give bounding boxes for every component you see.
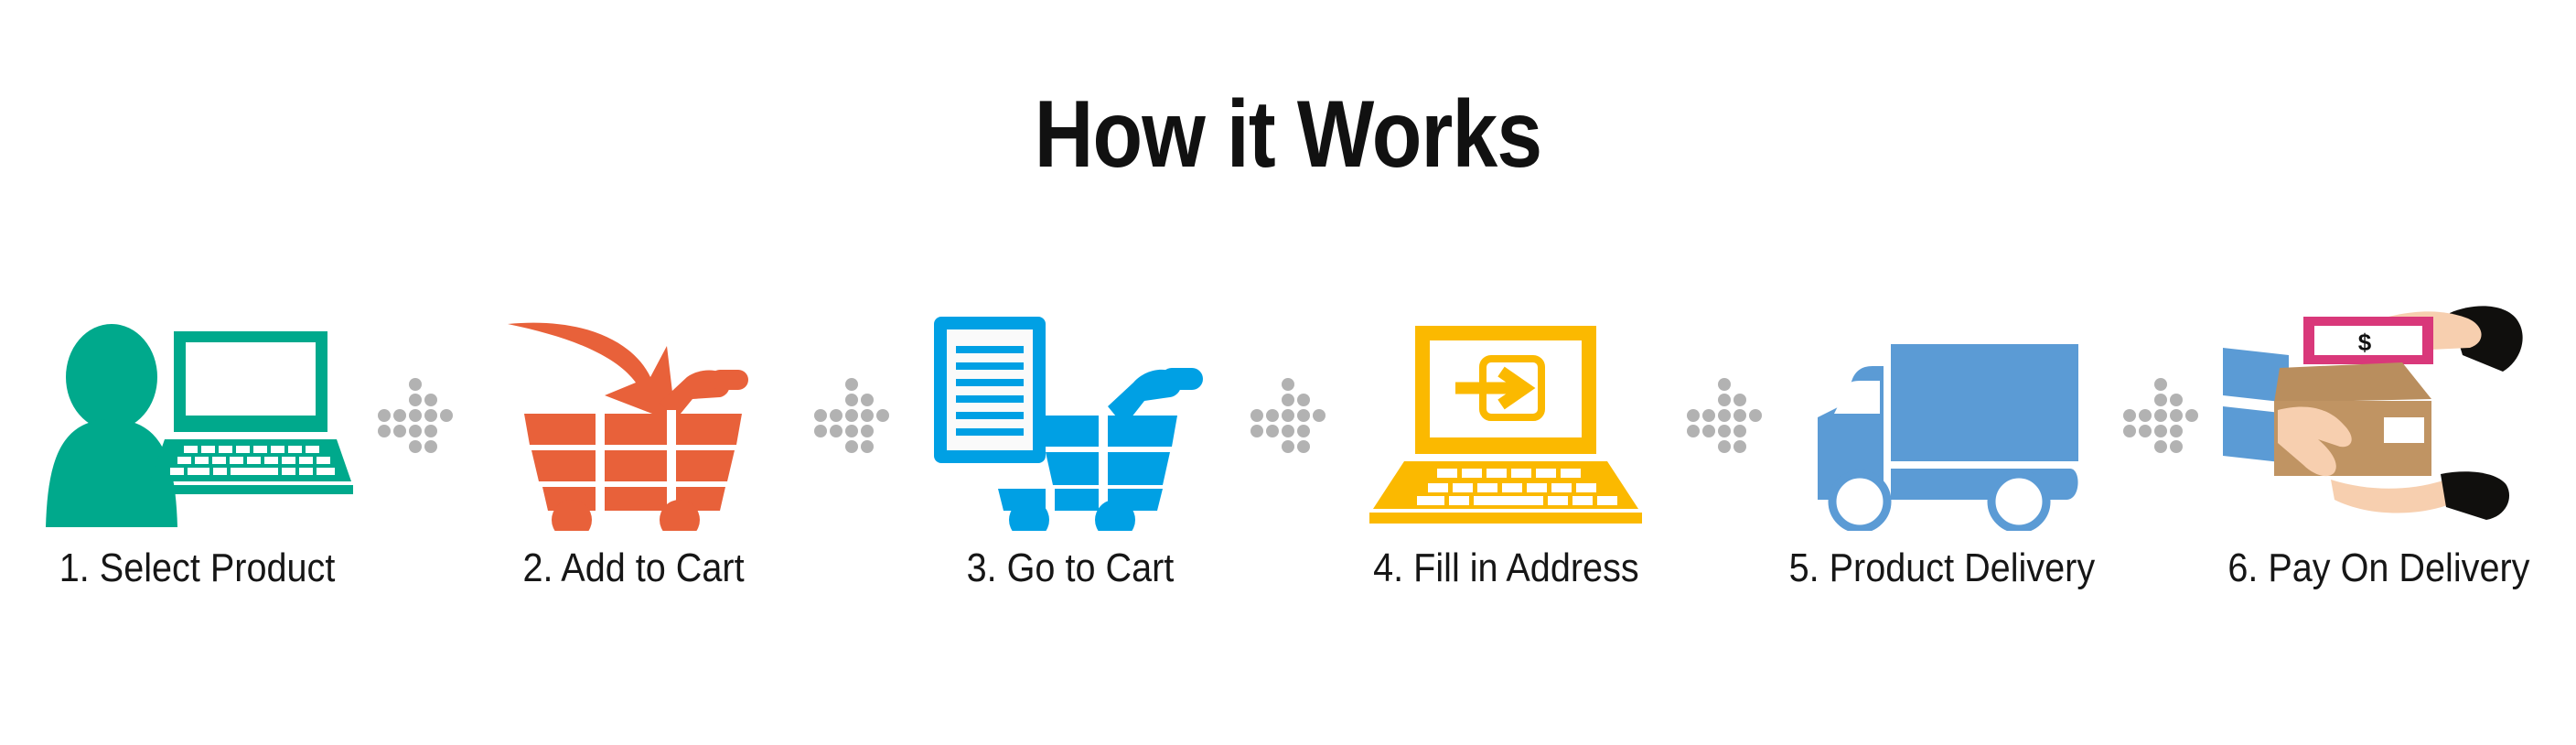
page-title: How it Works — [180, 87, 2396, 182]
step-select-product[interactable]: 1. Select Product — [37, 302, 359, 591]
hands-box-money-icon: $ — [2217, 302, 2539, 531]
step-go-to-cart[interactable]: 3. Go to Cart — [909, 302, 1231, 591]
step-label: 4. Fill in Address — [1373, 545, 1639, 591]
step-fill-in-address[interactable]: 4. Fill in Address — [1345, 302, 1667, 591]
step-add-to-cart[interactable]: 2. Add to Cart — [473, 302, 795, 591]
laptop-login-icon — [1345, 302, 1667, 531]
dotted-arrow-5 — [2113, 302, 2208, 531]
step-pay-on-delivery[interactable]: $ — [2217, 302, 2539, 591]
dotted-arrow-4 — [1677, 302, 1772, 531]
person-laptop-icon — [37, 302, 359, 531]
dotted-arrow-3 — [1240, 302, 1336, 531]
dotted-arrow-1 — [368, 302, 463, 531]
step-label: 1. Select Product — [59, 545, 336, 591]
step-label: 3. Go to Cart — [966, 545, 1174, 591]
infographic-page: How it Works — [0, 0, 2576, 745]
steps-row: 1. Select Product — [37, 302, 2539, 686]
dotted-arrow-2 — [804, 302, 899, 531]
cart-arrow-icon — [473, 302, 795, 531]
delivery-truck-icon — [1781, 302, 2103, 531]
step-label: 2. Add to Cart — [523, 545, 745, 591]
step-product-delivery[interactable]: 5. Product Delivery — [1781, 302, 2103, 591]
document-cart-icon — [909, 302, 1231, 531]
step-label: 5. Product Delivery — [1789, 545, 2096, 591]
dollar-symbol: $ — [2358, 329, 2372, 356]
step-label: 6. Pay On Delivery — [2227, 545, 2529, 591]
